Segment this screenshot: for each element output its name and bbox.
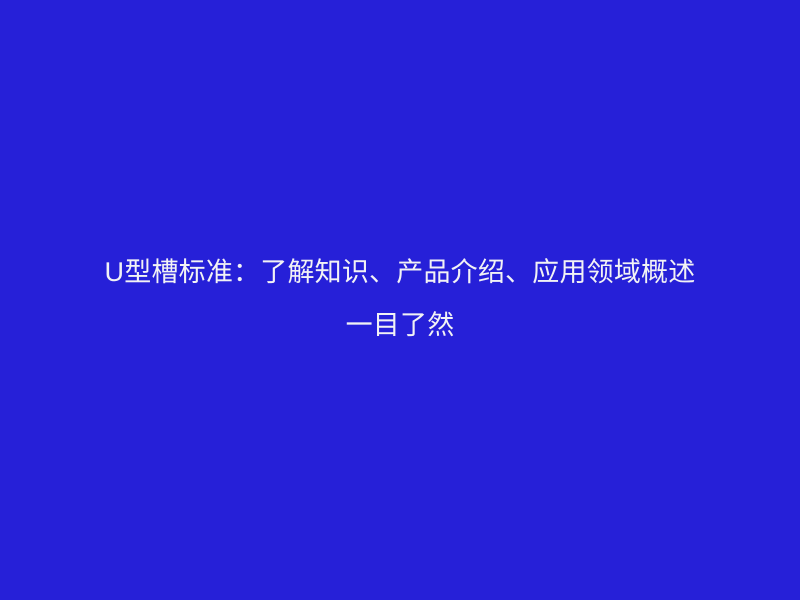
page-title: U型槽标准：了解知识、产品介绍、应用领域概述 一目了然 [50,246,750,352]
title-slide: U型槽标准：了解知识、产品介绍、应用领域概述 一目了然 [0,0,800,600]
title-block: U型槽标准：了解知识、产品介绍、应用领域概述 一目了然 [50,246,750,352]
